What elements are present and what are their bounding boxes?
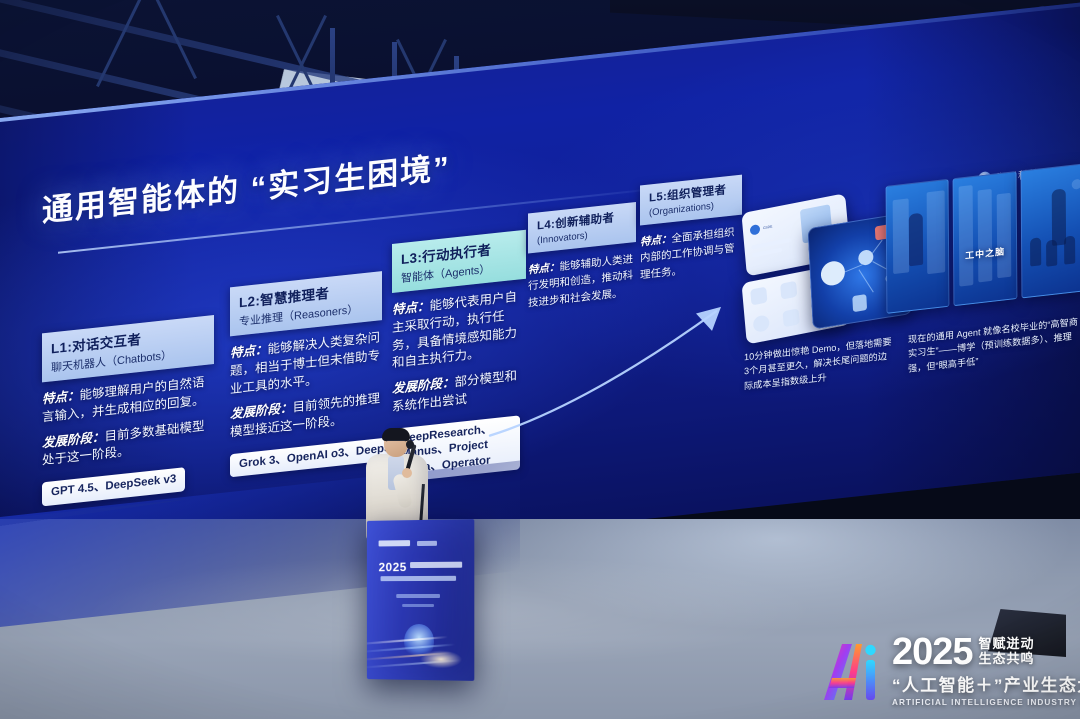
para-lead: 发展阶段： [392, 375, 455, 396]
co-host-logo [417, 540, 437, 545]
app-logo-icon [750, 224, 761, 236]
podium-logo-row [379, 539, 463, 546]
podium-title-line [410, 562, 462, 568]
engineer-figure [909, 213, 923, 267]
tile-1-text-line [751, 238, 791, 250]
media-caption-right: 现在的通用 Agent 就像名校毕业的“高智商实习生”——博学（预训练数据多）、… [908, 314, 1080, 376]
conference-slogan-line-1: 智赋迸动 [979, 637, 1035, 651]
illustration-panel-datacenter-engineer[interactable] [886, 179, 950, 314]
network-edge [872, 240, 883, 254]
stage-podium: 2025 [367, 519, 474, 681]
conference-host-logo [379, 540, 410, 546]
grid-icon-people [750, 287, 767, 306]
network-node-user [820, 259, 845, 287]
network-node-rocket [852, 294, 867, 312]
level-card-l5-header: L5:组织管理者 (Organizations) [640, 175, 742, 226]
level-card-l1-header: L1:对话交互者 聊天机器人（Chatbots） [42, 315, 214, 382]
data-bubble [1071, 179, 1080, 190]
server-rack [978, 189, 993, 283]
audience-figure [1064, 235, 1075, 264]
tile-1-text-line [752, 248, 782, 258]
illustration-panel-meeting-room[interactable] [1020, 163, 1080, 298]
presenter-hand [402, 468, 412, 478]
product-screenshot-cluster: CSDE [744, 187, 904, 339]
conference-slogan: 智赋迸动 生态共鸣 [979, 637, 1035, 670]
conference-subtitle: ARTIFICIAL INTELLIGENCE INDUSTRY CONFERE… [892, 698, 1080, 707]
level-card-l5-body: 特点：全面承担组织内部的工作协调与管理任务。 [640, 224, 742, 284]
audience-figure [1046, 239, 1057, 266]
podium-year: 2025 [379, 560, 407, 574]
para-lead: 特点： [392, 299, 430, 317]
ai-letterform-logo-icon [822, 638, 884, 704]
conference-year: 2025 [892, 635, 973, 670]
tile-1-label: CSDE [763, 224, 773, 230]
para-lead: 特点： [528, 261, 560, 276]
conference-logo-text: 2025 智赋迸动 生态共鸣 “人工智能＋”产业生态大会 ARTIFICIAL … [892, 635, 1080, 708]
para-text: 能够解决人类复杂问题，相当于博士但未借助专业工具的水平。 [230, 330, 380, 396]
para-lead: 特点： [42, 388, 80, 406]
level-card-l3-header: L3:行动执行者 智能体（Agents） [392, 230, 526, 293]
conference-stage-scene: 通用智能体的 “实习生困境” 衡远科技 L1:对话交互者 聊天机器人（Chatb… [0, 0, 1080, 719]
podium-title-line [381, 576, 457, 581]
level-card-l4-header: L4:创新辅助者 (Innovators) [528, 202, 636, 254]
audience-figure [1030, 237, 1041, 266]
para-lead: 特点： [230, 342, 268, 360]
presenter-figure [1051, 189, 1065, 247]
level-card-l2-para-1: 特点：能够解决人类复杂问题，相当于博士但未借助专业工具的水平。 [230, 329, 382, 398]
level-card-l5-para-1: 特点：全面承担组织内部的工作协调与管理任务。 [640, 224, 742, 284]
para-lead: 特点： [640, 233, 672, 248]
conference-logo: 2025 智赋迸动 生态共鸣 “人工智能＋”产业生态大会 ARTIFICIAL … [822, 633, 1070, 709]
para-lead: 发展阶段： [230, 401, 293, 422]
grid-icon-document [782, 308, 799, 327]
level-card-l1[interactable]: L1:对话交互者 聊天机器人（Chatbots） 特点：能够理解用户的自然语言输… [42, 315, 214, 506]
server-rack [997, 193, 1012, 279]
microphone-capsule [406, 440, 414, 449]
podium-lens-flare [420, 650, 462, 669]
illustration-panel-group: 工中之脑 [886, 163, 1080, 313]
network-node-core [858, 249, 874, 266]
podium-subtitle-line [402, 604, 434, 607]
level-card-l1-para-2: 发展阶段：目前多数基础模型处于这一阶段。 [42, 417, 214, 471]
server-rack [893, 198, 910, 274]
grid-icon-robot [780, 281, 797, 300]
network-edge [858, 269, 873, 292]
conference-main-title: “人工智能＋”产业生态大会 [892, 671, 1080, 696]
level-card-l5[interactable]: L5:组织管理者 (Organizations) 特点：全面承担组织内部的工作协… [640, 175, 742, 292]
ceiling-truss-brace [96, 0, 147, 87]
server-rack [959, 185, 974, 287]
grid-icon-mercedes [753, 314, 770, 333]
podium-subtitle-line [396, 594, 440, 598]
illustration-panel-server-room[interactable]: 工中之脑 [953, 171, 1017, 306]
level-card-l2-header: L2:智慧推理者 专业推理（Reasoners） [230, 271, 382, 336]
server-rack [927, 190, 946, 274]
conference-slogan-line-2: 生态共鸣 [979, 652, 1035, 666]
level-card-l1-body: 特点：能够理解用户的自然语言输入，并生成相应的回复。 发展阶段：目前多数基础模型… [42, 373, 214, 506]
glasses-icon [386, 440, 406, 445]
